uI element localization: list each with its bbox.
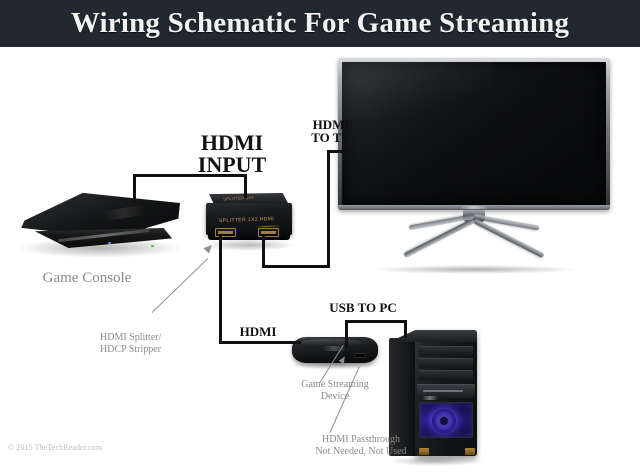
label-splitter-note: HDMI Splitter/ HDCP Stripper [100,332,210,356]
splitter-brand-text: SPLITTER 1X2 HDMI [219,216,281,224]
streamer-usb-port [354,353,366,358]
cable-console-riser [133,174,136,202]
splitter-shadow [202,239,296,251]
cable-usb-riser [345,320,348,348]
cable-usb-run [345,320,407,323]
tv-shadow [369,265,579,274]
label-game-console: Game Console [22,270,152,288]
tv-stand-group [338,58,610,210]
pc-top-panel [389,330,477,342]
cable-tv-run [262,265,330,268]
page-title: Wiring Schematic For Game Streaming [71,7,569,40]
leader-splitter-note [152,258,209,313]
pc-side-window [419,402,473,438]
cable-tv-into-panel [327,150,353,153]
pc-brand-badge [423,396,437,400]
label-streaming-device: Game Streaming Device [280,379,390,403]
game-console [18,192,180,258]
cable-tv-drop [262,236,265,268]
label-hdmi-input: HDMI INPUT [162,132,302,177]
diagram-canvas: Wiring Schematic For Game Streaming SPLI… [0,0,640,475]
cable-usb-into-pc [404,320,407,338]
pc-drive-bay-3 [419,370,473,380]
label-hdmi-to-tv: HDMI TO TV [286,118,376,145]
console-status-led [151,245,154,247]
cable-tv-riser [327,150,330,268]
cable-into-splitter [244,174,247,198]
copyright-notice: © 2015 TheTechReader.com [8,443,102,452]
splitter-top-marking: SPLITTER 1X2 [223,194,279,202]
label-hdmi: HDMI [226,325,290,338]
game-streaming-device [292,337,378,371]
pc-foot-right [465,448,475,455]
label-usb-to-pc: USB TO PC [309,301,417,314]
cable-hdmi-to-streamer [219,341,301,344]
label-passthrough-note: HDMI Passthrough Not Needed, Not Used [296,434,426,458]
header-bar: Wiring Schematic For Game Streaming [0,0,640,47]
pc-drive-bay-2 [419,358,473,368]
pc-case-fan [432,409,456,433]
pc-drive-bay-1 [419,346,473,356]
console-power-led [108,242,111,244]
cable-hdmi-down [219,236,222,344]
streamer-highlight [300,339,362,346]
